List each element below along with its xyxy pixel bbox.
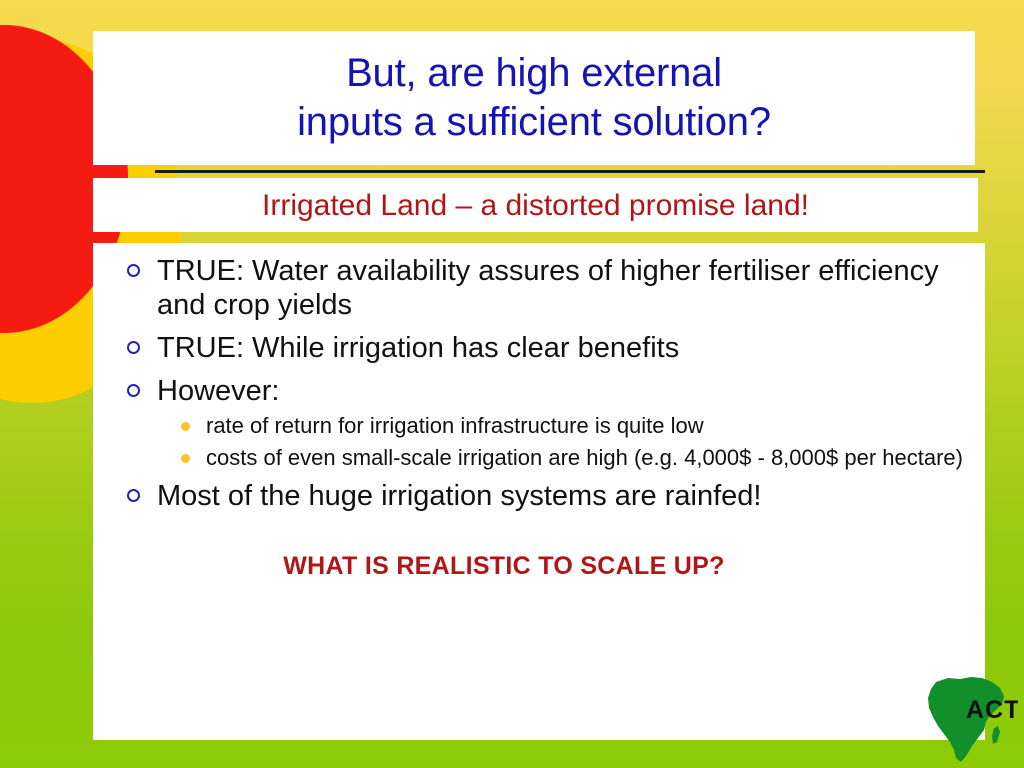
list-item: Most of the huge irrigation systems are … bbox=[111, 480, 971, 514]
sub-list-item: costs of even small-scale irrigation are… bbox=[177, 445, 971, 471]
hollow-circle-bullet-icon bbox=[127, 384, 140, 397]
body-panel: TRUE: Water availability assures of high… bbox=[93, 243, 985, 740]
sub-bullet-list: rate of return for irrigation infrastruc… bbox=[157, 413, 971, 472]
sub-list-item: rate of return for irrigation infrastruc… bbox=[177, 413, 971, 439]
filled-circle-bullet-icon bbox=[181, 454, 190, 463]
slide-title: But, are high external inputs a sufficie… bbox=[297, 49, 771, 147]
hollow-circle-bullet-icon bbox=[127, 264, 140, 277]
slide-subtitle: Irrigated Land – a distorted promise lan… bbox=[262, 189, 809, 222]
closing-statement: WHAT IS REALISTIC TO SCALE UP? bbox=[93, 552, 985, 581]
filled-circle-bullet-icon bbox=[181, 422, 190, 431]
madagascar-icon bbox=[992, 726, 1000, 744]
subtitle-panel: Irrigated Land – a distorted promise lan… bbox=[93, 178, 978, 232]
act-africa-logo: ACT bbox=[914, 670, 1018, 766]
act-logo-text: ACT bbox=[966, 696, 1018, 724]
list-item: TRUE: While irrigation has clear benefit… bbox=[111, 332, 971, 366]
bullet-list: TRUE: Water availability assures of high… bbox=[93, 243, 985, 514]
hollow-circle-bullet-icon bbox=[127, 341, 140, 354]
list-item: TRUE: Water availability assures of high… bbox=[111, 255, 971, 323]
sub-list-item-text: costs of even small-scale irrigation are… bbox=[206, 445, 963, 470]
title-panel: But, are high external inputs a sufficie… bbox=[93, 31, 975, 165]
list-item-text: TRUE: Water availability assures of high… bbox=[157, 255, 939, 321]
list-item: However: rate of return for irrigation i… bbox=[111, 375, 971, 472]
hollow-circle-bullet-icon bbox=[127, 489, 140, 502]
list-item-text: However: bbox=[157, 375, 280, 407]
list-item-text: TRUE: While irrigation has clear benefit… bbox=[157, 332, 679, 364]
list-item-text: Most of the huge irrigation systems are … bbox=[157, 480, 761, 512]
slide-canvas: But, are high external inputs a sufficie… bbox=[0, 0, 1024, 768]
sub-list-item-text: rate of return for irrigation infrastruc… bbox=[206, 413, 704, 438]
title-separator-rule bbox=[155, 170, 985, 173]
